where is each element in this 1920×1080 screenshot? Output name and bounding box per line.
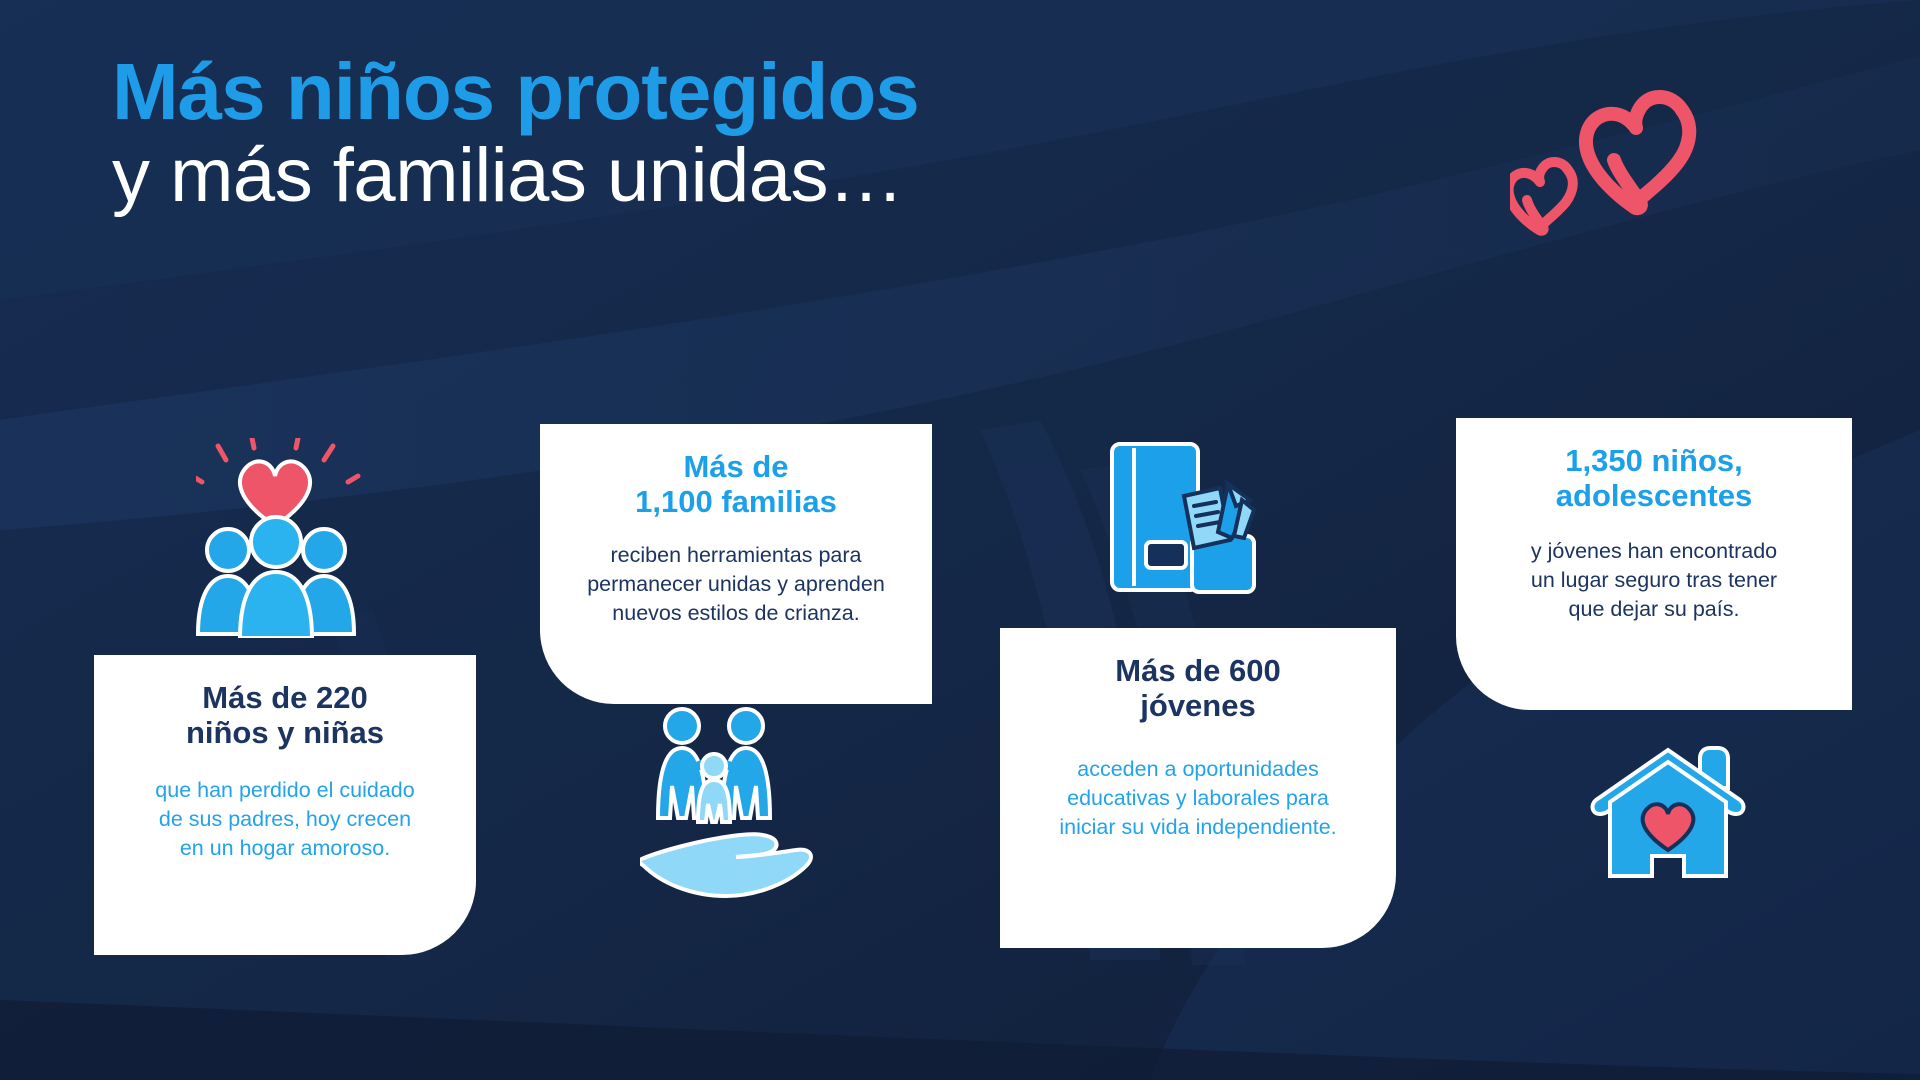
stat-card-2-body: reciben herramientas para permanecer uni… <box>562 541 910 627</box>
hearts-outline-pair-icon <box>1510 80 1710 250</box>
stat-card-2-body-line2: permanecer unidas y aprenden <box>562 570 910 599</box>
stat-card-4-title-line2: adolescentes <box>1478 479 1830 514</box>
stat-card-1-body-line2: de sus padres, hoy crecen <box>116 805 454 834</box>
page-title-line2: y más familias unidas… <box>112 138 919 214</box>
stat-card-1-body: que han perdido el cuidado de sus padres… <box>116 776 454 862</box>
stat-card-3-body-line2: educativas y laborales para <box>1022 784 1374 813</box>
stat-card-2-body-line3: nuevos estilos de crianza. <box>562 599 910 628</box>
house-heart-icon <box>1588 740 1748 890</box>
three-people-heart-icon <box>196 438 376 643</box>
stat-card-1: Más de 220 niños y niñas que han perdido… <box>94 655 476 955</box>
stat-card-1-body-line1: que han perdido el cuidado <box>116 776 454 805</box>
stat-card-2-title: Más de 1,100 familias <box>562 450 910 519</box>
stat-card-1-title-line2: niños y niñas <box>116 716 454 751</box>
stat-card-4-title: 1,350 niños, adolescentes <box>1478 444 1830 513</box>
stat-card-4-body: y jóvenes han encontrado un lugar seguro… <box>1478 537 1830 623</box>
page-title: Más niños protegidos y más familias unid… <box>112 52 919 214</box>
stat-card-2: Más de 1,100 familias reciben herramient… <box>540 424 932 704</box>
stat-card-4: 1,350 niños, adolescentes y jóvenes han … <box>1456 418 1852 710</box>
page-title-line1: Más niños protegidos <box>112 52 919 132</box>
stat-card-3-body-line1: acceden a oportunidades <box>1022 755 1374 784</box>
stat-card-3-body: acceden a oportunidades educativas y lab… <box>1022 755 1374 841</box>
stat-card-2-title-line2: 1,100 familias <box>562 485 910 520</box>
stat-card-3-title-line2: jóvenes <box>1022 689 1374 724</box>
stat-card-1-title-line1: Más de 220 <box>116 681 454 716</box>
family-in-hand-icon <box>640 700 830 905</box>
stat-card-1-body-line3: en un hogar amoroso. <box>116 834 454 863</box>
stat-card-1-title: Más de 220 niños y niñas <box>116 681 454 750</box>
stat-card-3-title: Más de 600 jóvenes <box>1022 654 1374 723</box>
book-pencils-icon <box>1108 440 1278 600</box>
stat-card-2-body-line1: reciben herramientas para <box>562 541 910 570</box>
stat-card-4-body-line1: y jóvenes han encontrado <box>1478 537 1830 566</box>
stat-card-4-body-line3: que dejar su país. <box>1478 595 1830 624</box>
stat-card-3-title-line1: Más de 600 <box>1022 654 1374 689</box>
stat-card-3-body-line3: iniciar su vida independiente. <box>1022 813 1374 842</box>
stat-card-4-title-line1: 1,350 niños, <box>1478 444 1830 479</box>
stat-card-4-body-line2: un lugar seguro tras tener <box>1478 566 1830 595</box>
stat-card-3: Más de 600 jóvenes acceden a oportunidad… <box>1000 628 1396 948</box>
stat-card-2-title-line1: Más de <box>562 450 910 485</box>
